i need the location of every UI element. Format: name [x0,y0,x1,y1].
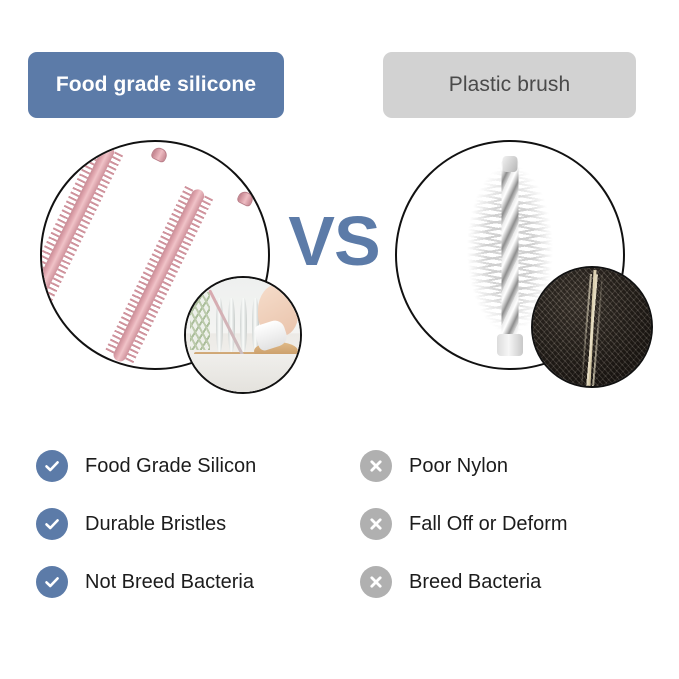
silicone-brush-1 [40,143,116,334]
list-item: Durable Bristles [36,495,256,553]
dish-rack-photo [186,278,300,392]
cons-item-label: Poor Nylon [409,455,508,478]
cross-icon [360,508,392,540]
nylon-brush-tip [503,156,518,172]
list-item: Not Breed Bacteria [36,553,256,611]
badge-plastic-brush: Plastic brush [383,52,636,118]
cons-item-label: Fall Off or Deform [409,513,568,536]
badge-good-label: Food grade silicone [56,73,256,97]
cross-icon [360,450,392,482]
pros-item-label: Food Grade Silicon [85,455,256,478]
vs-label: VS [279,206,389,276]
pros-item-label: Not Breed Bacteria [85,571,254,594]
list-item: Fall Off or Deform [360,495,568,553]
check-icon [36,566,68,598]
badge-food-grade-silicone: Food grade silicone [28,52,284,118]
cons-item-label: Breed Bacteria [409,571,541,594]
badge-bad-label: Plastic brush [449,73,571,97]
silicone-usage-inset [184,276,302,394]
counter-surface [186,354,300,392]
check-icon [36,508,68,540]
pros-item-label: Durable Bristles [85,513,226,536]
plant-decor [190,292,210,350]
list-item: Breed Bacteria [360,553,568,611]
nylon-brush-handle [497,334,523,356]
worn-brush-bristles [578,274,606,387]
pros-list: Food Grade Silicon Durable Bristles Not … [36,437,256,611]
plastic-dirty-inset [531,266,653,388]
dirty-surface-photo [533,268,651,386]
list-item: Food Grade Silicon [36,437,256,495]
nylon-twisted-wire-core [502,160,519,336]
comparison-infographic: Food grade silicone Plastic brush VS [0,0,679,679]
plate [240,298,247,352]
silicone-brush-2-cap [236,189,255,207]
cons-list: Poor Nylon Fall Off or Deform Breed Bact… [360,437,568,611]
cross-icon [360,566,392,598]
list-item: Poor Nylon [360,437,568,495]
silicone-brush-1-cap [150,145,169,163]
check-icon [36,450,68,482]
